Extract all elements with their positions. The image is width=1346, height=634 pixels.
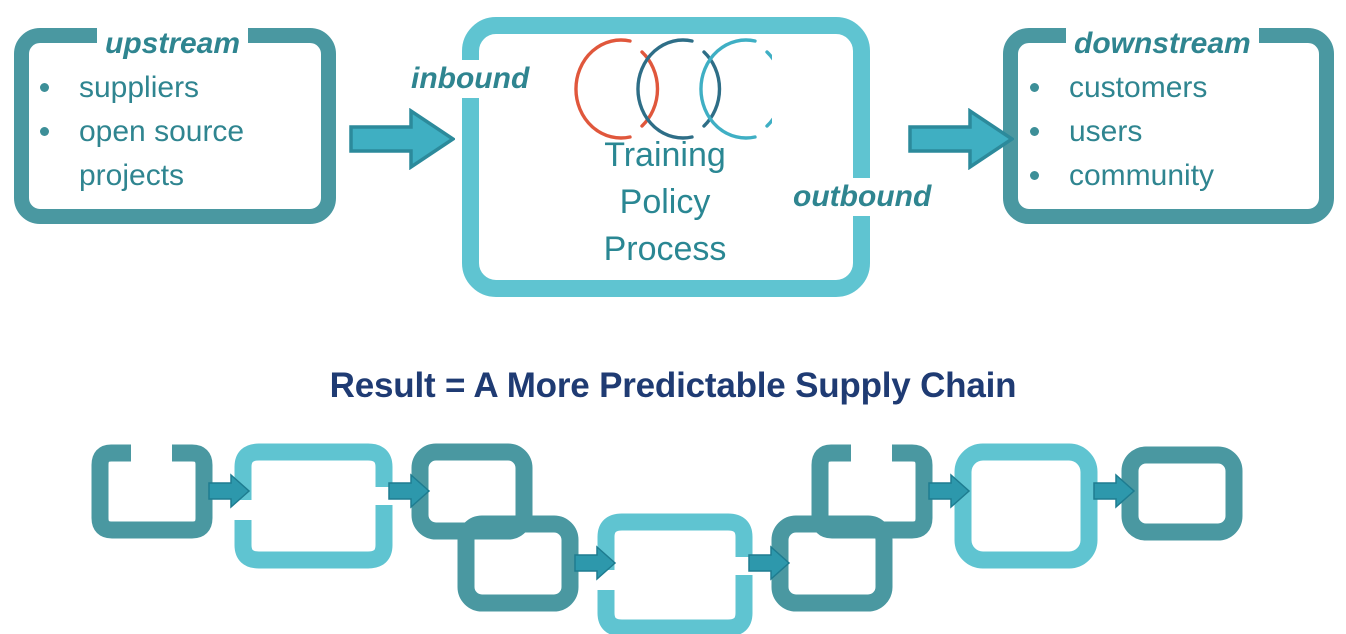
bullet-dot-icon — [1030, 127, 1039, 136]
bullet-dot-icon — [1030, 171, 1039, 180]
list-item: open source — [40, 110, 330, 154]
outbound-arrow — [908, 108, 1014, 170]
result-statement: Result = A More Predictable Supply Chain — [0, 366, 1346, 406]
upstream-list: suppliers open source projects — [40, 66, 330, 198]
list-item: customers — [1030, 66, 1330, 110]
bullet-dot-icon — [1030, 83, 1039, 92]
chain-node-5 — [606, 522, 744, 628]
bullet-dot-icon — [40, 83, 49, 92]
upstream-label: upstream — [97, 27, 248, 61]
downstream-label: downstream — [1066, 27, 1259, 61]
center-line: Training — [520, 132, 810, 179]
center-line: Process — [520, 226, 810, 273]
chain-node-2 — [243, 452, 384, 560]
chain-node-8 — [963, 452, 1089, 560]
downstream-list: customers users community — [1030, 66, 1330, 198]
inbound-arrow — [349, 108, 455, 170]
center-line: Policy — [520, 179, 810, 226]
list-item: users — [1030, 110, 1330, 154]
chain-node-1 — [100, 453, 204, 530]
inbound-label: inbound — [404, 60, 536, 98]
list-item: suppliers — [40, 66, 330, 110]
three-overlapping-circles-logo — [552, 28, 772, 144]
bullet-dot-icon — [40, 127, 49, 136]
list-item: community — [1030, 154, 1330, 198]
center-process-words: Training Policy Process — [520, 132, 810, 273]
list-item-continuation: projects — [40, 154, 330, 198]
chain-node-9 — [1130, 455, 1234, 532]
diagram-canvas: upstream suppliers open source projects … — [0, 0, 1346, 634]
outbound-label: outbound — [786, 178, 938, 216]
